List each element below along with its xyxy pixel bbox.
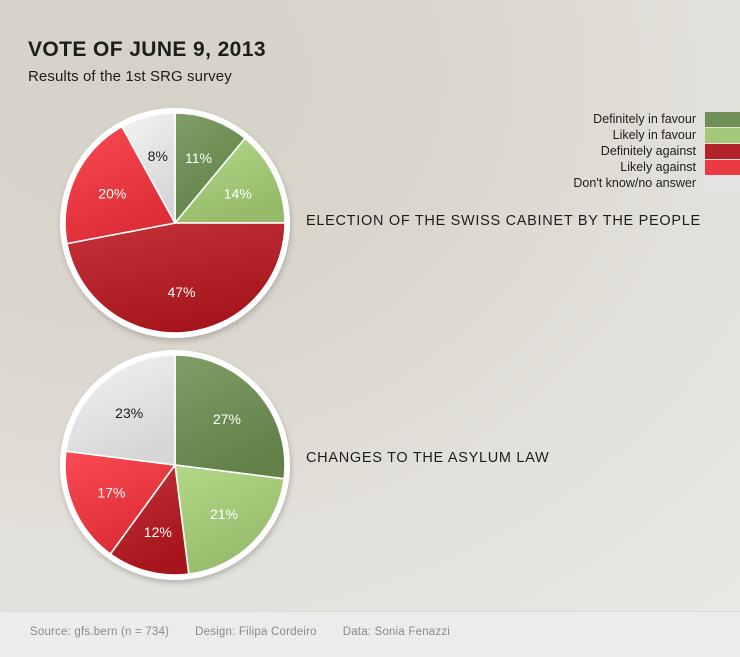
legend-item-label: Don't know/no answer (573, 175, 705, 191)
pie-chart-election-of-the-swiss-cabinet: 11%14%47%20%8% (55, 103, 295, 351)
pie-slice-label: 47% (167, 284, 195, 300)
pie-slice-label: 12% (144, 524, 172, 540)
chart-caption-2: CHANGES TO THE ASYLUM LAW (306, 450, 549, 466)
pie-slice-label: 8% (148, 148, 168, 164)
legend-item-label: Definitely against (601, 143, 705, 159)
legend-color-swatch (705, 128, 740, 143)
pie-slice-label: 14% (224, 186, 252, 202)
legend: Definitely in favourLikely in favourDefi… (480, 111, 740, 191)
pie-slice-label: 17% (97, 485, 125, 501)
credit-design: Design: Filipa Cordeiro (195, 626, 317, 638)
pie-chart-changes-to-the-asylum-law: 27%21%12%17%23% (55, 345, 295, 593)
legend-color-swatch (705, 144, 740, 159)
legend-color-swatch (705, 160, 740, 175)
legend-item: Likely against (480, 159, 740, 175)
pie-slice-label: 20% (98, 186, 126, 202)
pie-slice (67, 223, 285, 333)
legend-item-label: Definitely in favour (593, 111, 705, 127)
infographic-canvas: VOTE OF JUNE 9, 2013 Results of the 1st … (0, 0, 740, 657)
page-title: VOTE OF JUNE 9, 2013 (28, 38, 266, 61)
chart-caption-1: ELECTION OF THE SWISS CABINET BY THE PEO… (306, 213, 701, 229)
pie-slice-label: 21% (210, 506, 238, 522)
credit-source: Source: gfs.bern (n = 734) (30, 626, 169, 638)
pie-slice-label: 27% (213, 411, 241, 427)
legend-item: Definitely against (480, 143, 740, 159)
header: VOTE OF JUNE 9, 2013 Results of the 1st … (28, 38, 266, 85)
legend-color-swatch (705, 112, 740, 127)
legend-color-swatch (705, 176, 740, 191)
legend-item: Likely in favour (480, 127, 740, 143)
credit-data: Data: Sonia Fenazzi (343, 626, 450, 638)
footer-bar: Source: gfs.bern (n = 734) Design: Filip… (0, 611, 740, 657)
legend-item: Don't know/no answer (480, 175, 740, 191)
legend-item: Definitely in favour (480, 111, 740, 127)
legend-item-label: Likely against (620, 159, 705, 175)
pie-slice-label: 11% (185, 150, 212, 166)
pie-slice-label: 23% (115, 405, 143, 421)
legend-item-label: Likely in favour (613, 127, 705, 143)
page-subtitle: Results of the 1st SRG survey (28, 68, 266, 85)
